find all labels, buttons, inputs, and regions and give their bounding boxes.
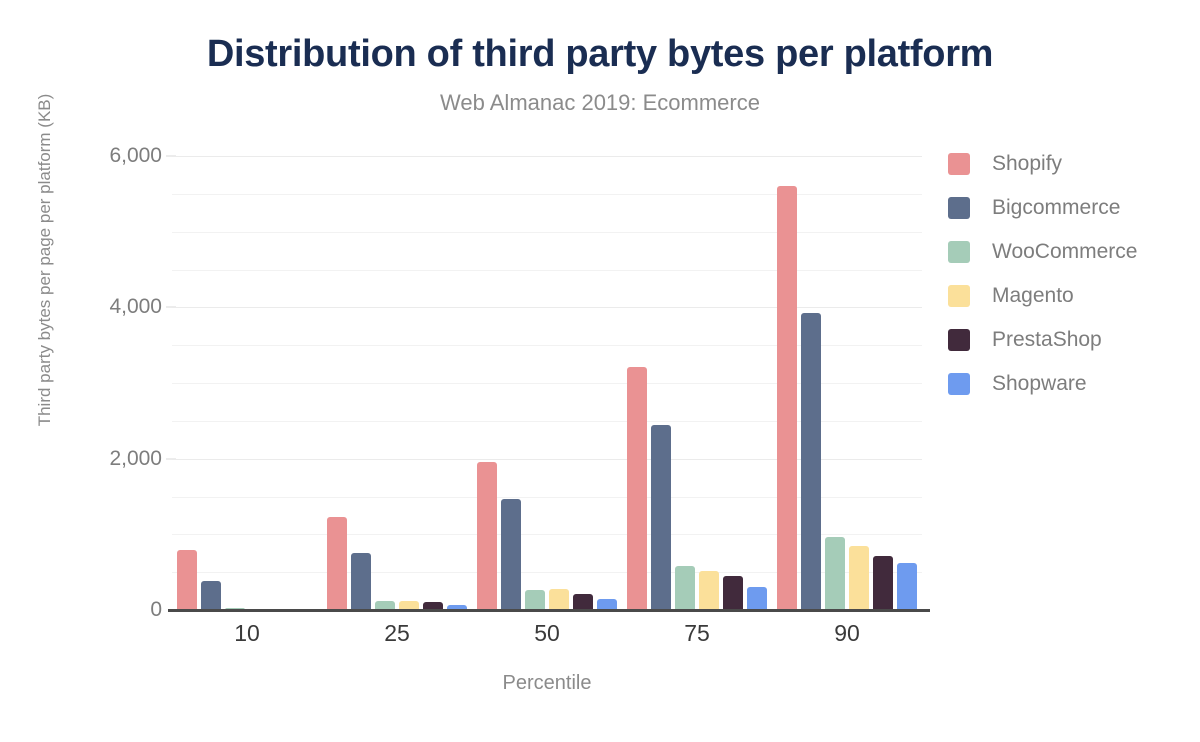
bar-group [322, 156, 472, 610]
bar-groups [172, 156, 922, 610]
x-axis-tick-label: 25 [322, 616, 472, 650]
bar-group [772, 156, 922, 610]
legend-color-swatch [948, 153, 970, 175]
x-axis-tick-label: 75 [622, 616, 772, 650]
y-axis-tick-label: 4,000 [72, 295, 162, 319]
bar[interactable] [825, 537, 845, 610]
legend-label: PrestaShop [992, 328, 1102, 352]
y-axis-tick-label: 2,000 [72, 447, 162, 471]
y-axis-tick-label: 0 [72, 598, 162, 622]
bar[interactable] [801, 313, 821, 610]
bar-group [472, 156, 622, 610]
bar[interactable] [177, 550, 197, 610]
bar[interactable] [573, 594, 593, 610]
bar[interactable] [699, 571, 719, 610]
bar[interactable] [897, 563, 917, 610]
legend-label: Shopify [992, 152, 1062, 176]
y-axis-ticks: 02,0004,0006,000 [62, 156, 162, 610]
plot-area [172, 156, 922, 610]
legend-item[interactable]: PrestaShop [948, 318, 1188, 362]
y-axis-title: Third party bytes per page per platform … [35, 35, 55, 485]
bar[interactable] [525, 590, 545, 610]
x-axis-title: Percentile [172, 672, 922, 695]
bar[interactable] [327, 517, 347, 610]
legend-color-swatch [948, 329, 970, 351]
bar[interactable] [675, 566, 695, 610]
bar[interactable] [747, 587, 767, 610]
legend-item[interactable]: Magento [948, 274, 1188, 318]
bar[interactable] [351, 553, 371, 610]
bar[interactable] [723, 576, 743, 610]
chart-title: Distribution of third party bytes per pl… [0, 30, 1200, 78]
bar-group [172, 156, 322, 610]
chart-subtitle: Web Almanac 2019: Ecommerce [0, 88, 1200, 118]
y-axis-tick-label: 6,000 [72, 144, 162, 168]
x-axis-tick-label: 90 [772, 616, 922, 650]
bar-group [622, 156, 772, 610]
legend-color-swatch [948, 373, 970, 395]
legend: ShopifyBigcommerceWooCommerceMagentoPres… [948, 142, 1188, 406]
x-axis-tick-label: 50 [472, 616, 622, 650]
bar[interactable] [627, 367, 647, 610]
bar[interactable] [849, 546, 869, 610]
x-axis-line [168, 609, 930, 612]
bar[interactable] [201, 581, 221, 611]
bar[interactable] [501, 499, 521, 610]
legend-item[interactable]: WooCommerce [948, 230, 1188, 274]
bar[interactable] [651, 425, 671, 610]
bar[interactable] [873, 556, 893, 610]
legend-item[interactable]: Shopify [948, 142, 1188, 186]
legend-label: Bigcommerce [992, 196, 1120, 220]
legend-label: Magento [992, 284, 1074, 308]
bar[interactable] [549, 589, 569, 610]
legend-label: Shopware [992, 372, 1087, 396]
legend-item[interactable]: Shopware [948, 362, 1188, 406]
legend-color-swatch [948, 197, 970, 219]
chart-container: Distribution of third party bytes per pl… [0, 0, 1200, 742]
legend-label: WooCommerce [992, 240, 1137, 264]
legend-color-swatch [948, 241, 970, 263]
x-axis-tick-label: 10 [172, 616, 322, 650]
legend-color-swatch [948, 285, 970, 307]
x-axis-tick-labels: 1025507590 [172, 616, 922, 650]
bar[interactable] [777, 186, 797, 610]
bar[interactable] [477, 462, 497, 610]
legend-item[interactable]: Bigcommerce [948, 186, 1188, 230]
